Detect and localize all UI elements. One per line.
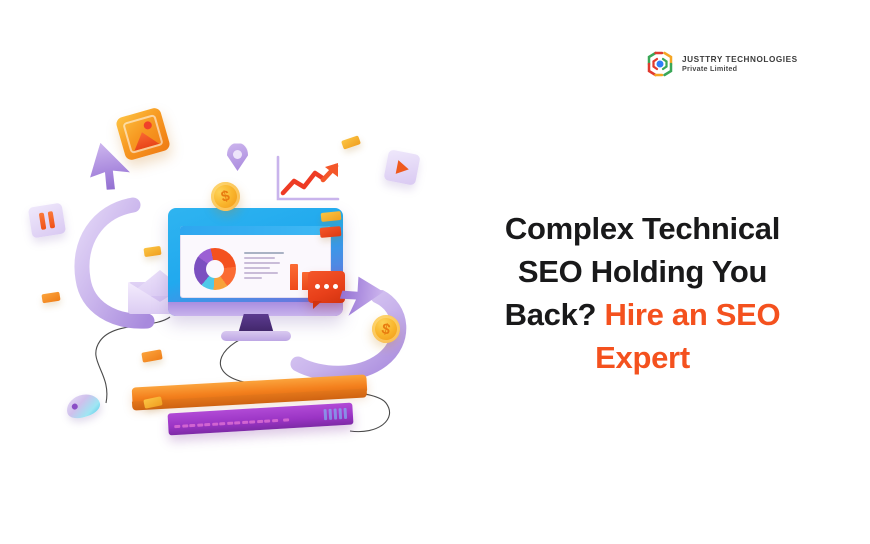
browser-url-bar — [180, 226, 331, 235]
chat-dots — [315, 284, 338, 289]
keyboard-numpad — [324, 408, 348, 420]
screen-text-lines — [244, 252, 284, 282]
location-pin-icon — [227, 143, 248, 171]
logo-text-block: JUSTTRY TECHNOLOGIES Private Limited — [682, 55, 798, 72]
ticket-chip — [320, 226, 342, 238]
headline-line-2: SEO Holding You — [518, 254, 767, 289]
play-button-icon — [383, 149, 420, 186]
chat-bubble-icon — [308, 271, 345, 303]
headline-line-1: Complex Technical — [505, 211, 780, 246]
image-photo-icon — [115, 107, 171, 162]
justtry-hexagon-logo-icon — [645, 50, 675, 78]
ticket-chip — [341, 135, 361, 149]
photo-sun — [143, 120, 153, 130]
donut-chart — [194, 248, 236, 290]
headline-line-4-accent: Expert — [595, 340, 690, 375]
headline-line-3-black: Back? — [505, 297, 605, 332]
page-title: Complex Technical SEO Holding You Back? … — [470, 207, 815, 379]
photo-mountain — [130, 128, 160, 152]
hero-illustration: $ $ — [20, 95, 440, 425]
company-suffix: Private Limited — [682, 65, 798, 73]
company-logo[interactable]: JUSTTRY TECHNOLOGIES Private Limited — [645, 50, 798, 78]
growth-line-chart-icon — [274, 155, 342, 205]
headline-line-3-accent: Hire an SEO — [604, 297, 780, 332]
pause-button-icon — [28, 203, 66, 239]
promo-banner: JUSTTRY TECHNOLOGIES Private Limited Com… — [0, 0, 870, 544]
monitor-foot — [221, 331, 291, 341]
photo-frame — [122, 114, 164, 154]
